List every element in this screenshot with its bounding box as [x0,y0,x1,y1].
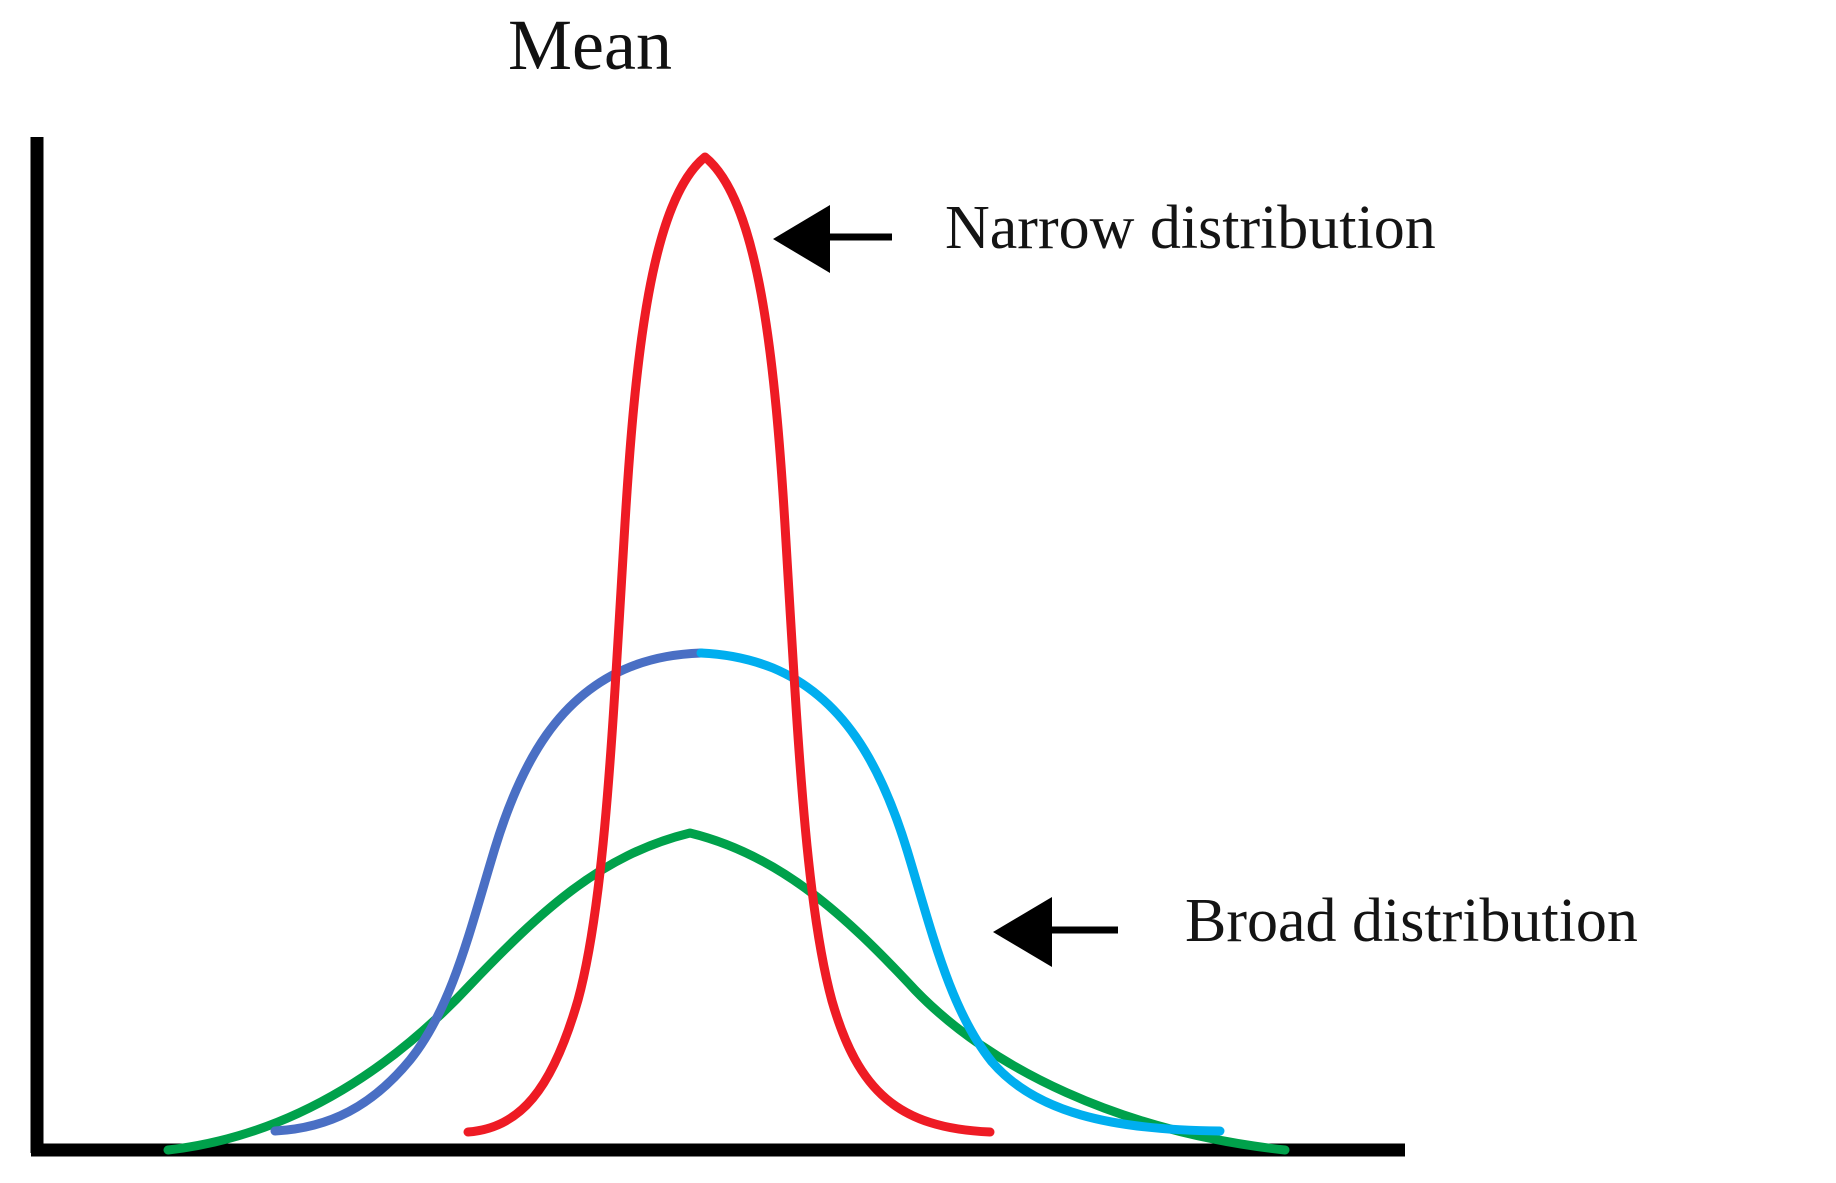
distribution-plot [0,0,1836,1183]
narrow-arrow-head [773,205,830,273]
cyan-intermediate-curve-right [701,653,1220,1131]
broad-arrow-icon [993,897,1118,967]
green-broad-curve [168,833,1285,1150]
annotation-label-narrow: Narrow distribution [945,197,1436,259]
broad-arrow-head [993,897,1052,967]
axes-group [31,137,1405,1153]
narrow-arrow-icon [773,205,892,273]
annotation-label-broad: Broad distribution [1185,890,1638,952]
figure-canvas: Mean Narrow distribution Broad distribut… [0,0,1836,1183]
figure-title: Mean [400,8,780,84]
blue-intermediate-curve-left [275,653,701,1131]
